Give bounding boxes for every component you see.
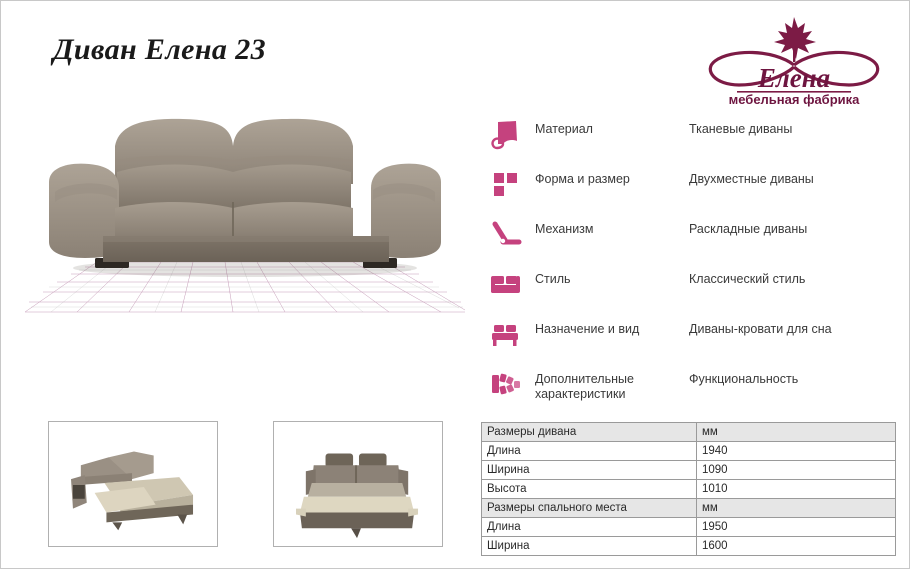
table-cell-value: 1950 [697,518,896,537]
table-cell-label: Ширина [482,537,697,556]
bed-icon [490,318,526,352]
table-cell-value: мм [697,423,896,442]
page-title: Диван Елена 23 [53,33,266,67]
table-row: Длина 1940 [482,442,896,461]
table-cell-label: Ширина [482,461,697,480]
sofa-main-photo [19,96,471,326]
table-cell-label: Высота [482,480,697,499]
sofa-unfolded-front-view[interactable] [273,421,443,547]
feature-label: Механизм [535,222,685,237]
feature-list: Материал Тканевые диваны Форма и размер … [490,114,900,414]
sofa-icon [490,268,526,302]
table-cell-value: мм [697,499,896,518]
dimensions-table: Размеры дивана мм Длина 1940 Ширина 1090… [481,422,896,556]
table-cell-value: 1090 [697,461,896,480]
feature-row-style: Стиль Классический стиль [490,264,900,314]
table-cell-label: Длина [482,518,697,537]
feature-label: Дополнительные характеристики [535,372,685,402]
fabric-swatch-icon [490,118,526,152]
feature-value: Двухместные диваны [689,172,814,187]
feature-label: Материал [535,122,685,137]
company-logo: Елена мебельная фабрика [701,15,887,107]
feature-value: Диваны-кровати для сна [689,322,832,337]
feature-label: Назначение и вид [535,322,685,337]
feature-row-mechanism: Механизм Раскладные диваны [490,214,900,264]
feature-label: Форма и размер [535,172,685,187]
feature-row-material: Материал Тканевые диваны [490,114,900,164]
sofa-unfolded-angle-view[interactable] [48,421,218,547]
feature-value: Тканевые диваны [689,122,792,137]
recliner-mechanism-icon [490,218,526,252]
feature-label: Стиль [535,272,685,287]
table-row: Высота 1010 [482,480,896,499]
table-cell-value: 1940 [697,442,896,461]
feature-row-extra: Дополнительные характеристики Функционал… [490,364,900,414]
table-cell-label: Длина [482,442,697,461]
table-cell-value: 1010 [697,480,896,499]
swatch-fan-icon [490,368,526,402]
feature-row-purpose: Назначение и вид Диваны-кровати для сна [490,314,900,364]
feature-value: Раскладные диваны [689,222,807,237]
table-cell-label: Размеры спального места [482,499,697,518]
logo-brand-text: Елена [757,63,830,93]
feature-row-shape-size: Форма и размер Двухместные диваны [490,164,900,214]
shape-size-blocks-icon [490,168,526,202]
feature-value: Классический стиль [689,272,805,287]
table-row: Длина 1950 [482,518,896,537]
table-row: Ширина 1090 [482,461,896,480]
table-row-header-sofa: Размеры дивана мм [482,423,896,442]
logo-tagline-text: мебельная фабрика [729,92,861,107]
feature-value: Функциональность [689,372,798,387]
table-row-header-sleeping: Размеры спального места мм [482,499,896,518]
table-cell-value: 1600 [697,537,896,556]
table-row: Ширина 1600 [482,537,896,556]
product-spec-sheet: Диван Елена 23 Елена мебельная фабрика [0,0,910,569]
table-cell-label: Размеры дивана [482,423,697,442]
